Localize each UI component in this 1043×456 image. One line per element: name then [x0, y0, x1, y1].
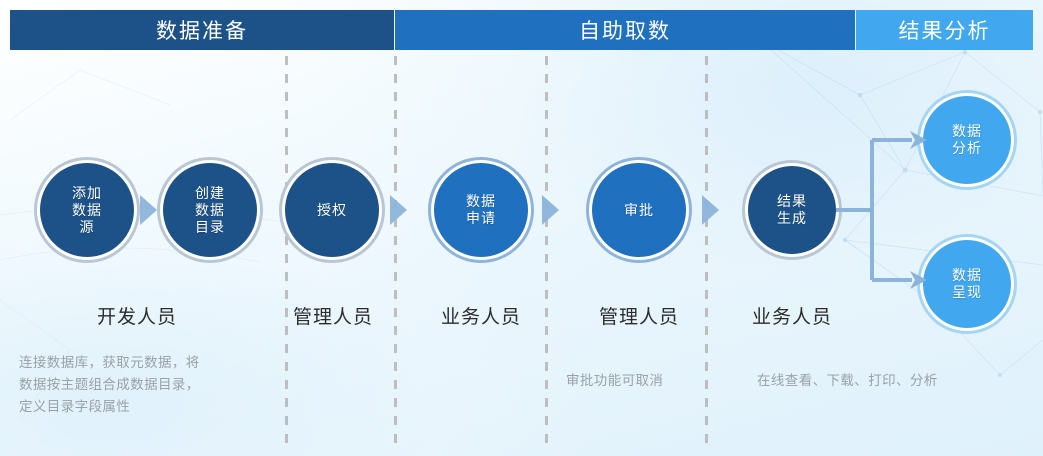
role-label-administrator-1: 管理人员 [287, 302, 379, 329]
column-divider-1 [285, 56, 288, 448]
phase-label: 自助取数 [579, 15, 671, 45]
description-approval: 审批功能可取消 [566, 370, 726, 392]
node-approval[interactable]: 审批 [592, 163, 686, 257]
branch-arrowhead-icons [910, 131, 927, 289]
phase-label: 数据准备 [156, 15, 248, 45]
column-divider-3 [545, 56, 548, 448]
node-create-catalog[interactable]: 创建 数据 目录 [163, 163, 257, 257]
column-divider-2 [394, 56, 397, 448]
node-label: 创建 数据 目录 [195, 185, 225, 236]
phase-label: 结果分析 [899, 15, 991, 45]
node-data-request[interactable]: 数据 申请 [434, 163, 528, 257]
node-label: 添加 数据 源 [72, 185, 102, 236]
flow-arrow-icon-1 [140, 195, 157, 225]
phase-header-data-preparation: 数据准备 [10, 10, 394, 50]
node-label: 授权 [317, 202, 347, 219]
role-label-business-2: 业务人员 [745, 302, 839, 329]
node-data-presentation[interactable]: 数据 呈现 [923, 240, 1011, 328]
node-data-analysis[interactable]: 数据 分析 [923, 96, 1011, 184]
node-label: 审批 [624, 202, 654, 219]
node-label: 数据 呈现 [952, 267, 982, 301]
node-label: 数据 申请 [466, 193, 496, 227]
node-authorize[interactable]: 授权 [285, 163, 379, 257]
node-add-source[interactable]: 添加 数据 源 [40, 163, 134, 257]
flow-arrow-icon-2 [390, 195, 407, 225]
phase-header-result-analysis: 结果分析 [856, 10, 1033, 50]
role-label-business-1: 业务人员 [434, 302, 528, 329]
flow-arrow-icon-4 [702, 195, 719, 225]
node-label: 数据 分析 [952, 123, 982, 157]
flow-arrow-icon-3 [542, 195, 559, 225]
phase-header-self-service-fetch: 自助取数 [395, 10, 855, 50]
node-label: 结果 生成 [777, 193, 807, 227]
description-data-preparation: 连接数据库，获取元数据，将 数据按主题组合成数据目录， 定义目录字段属性 [19, 352, 269, 418]
workflow-diagram: 数据准备 自助取数 结果分析 添加 数据 源 创建 数据 目录 授权 数据 申请… [0, 0, 1043, 456]
role-label-developer: 开发人员 [37, 302, 237, 329]
role-label-administrator-2: 管理人员 [592, 302, 686, 329]
node-result-generation[interactable]: 结果 生成 [748, 166, 836, 254]
description-analysis: 在线查看、下载、打印、分析 [757, 370, 1017, 392]
